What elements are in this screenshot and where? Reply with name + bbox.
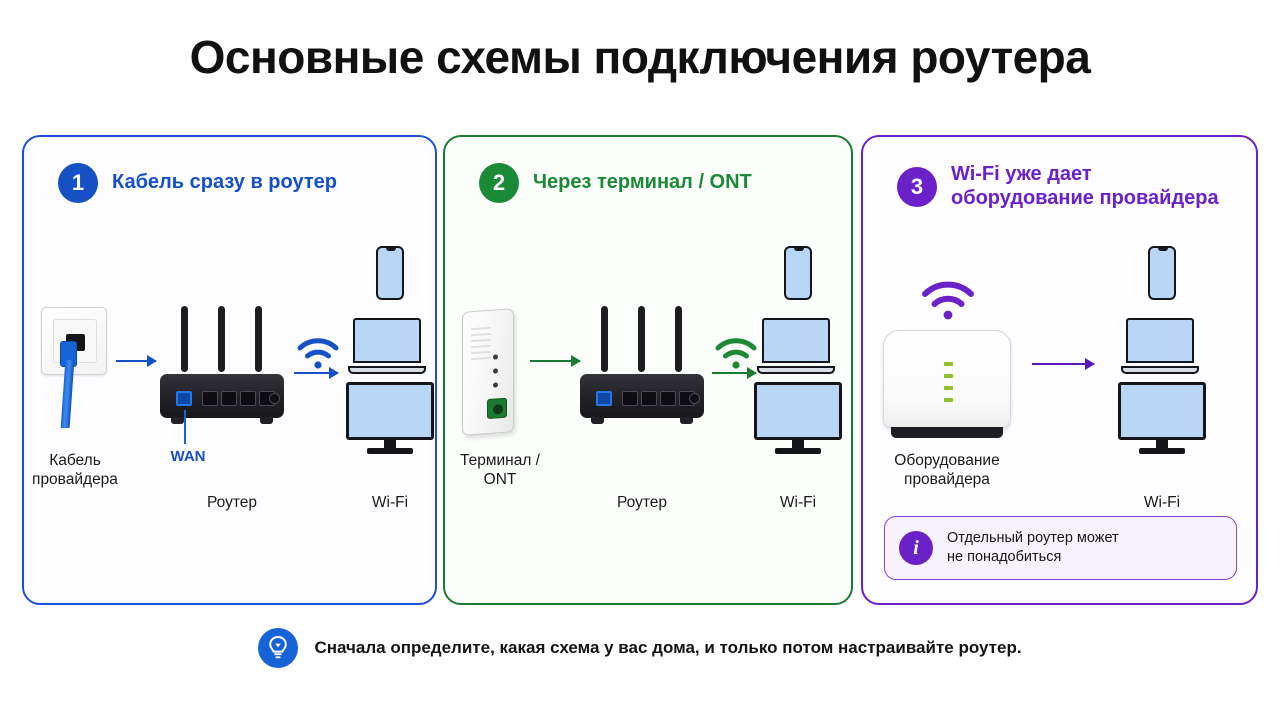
wan-leader-line xyxy=(184,410,186,444)
ont-vent-6 xyxy=(471,357,491,360)
tv-icon xyxy=(346,382,434,454)
panel-1-header: 1 Кабель сразу в роутер xyxy=(58,163,337,203)
diagram-canvas: Основные схемы подключения роутера 1 Каб… xyxy=(0,0,1280,720)
caption-wifi-3: Wi-Fi xyxy=(1112,494,1212,513)
ont-terminal-icon xyxy=(462,308,514,436)
router-antenna-right xyxy=(255,306,262,372)
provider-base xyxy=(891,427,1003,438)
ont-led-3 xyxy=(493,382,498,387)
info-note-text: Отдельный роутер может не понадобиться xyxy=(947,529,1119,567)
laptop-screen xyxy=(353,318,421,363)
panel-3-title-line-1: Wi-Fi уже дает xyxy=(951,163,1219,187)
ont-vent-4 xyxy=(471,345,491,348)
footer-text: Сначала определите, какая схема у вас до… xyxy=(314,638,1021,658)
router-foot-right xyxy=(260,417,273,424)
caption-provider-cable: Кабель провайдера xyxy=(20,452,130,490)
router-lan-port-3 xyxy=(240,391,256,406)
phone-icon xyxy=(376,246,404,300)
lightbulb-icon xyxy=(258,628,298,668)
router-power-button xyxy=(269,393,280,404)
arrow-router-to-devices-1 xyxy=(294,372,338,374)
arrow-head xyxy=(329,367,339,379)
phone-icon-2 xyxy=(784,246,812,300)
panel-2-title-line-1: Через терминал / ONT xyxy=(533,171,752,195)
laptop-screen xyxy=(1126,318,1194,363)
info-icon: i xyxy=(899,531,933,565)
arrow-head xyxy=(1085,358,1095,370)
router-power-button xyxy=(689,393,700,404)
panel-1-title: Кабель сразу в роутер xyxy=(112,171,337,195)
ont-vent-1 xyxy=(471,327,491,330)
provider-led-4 xyxy=(944,398,953,402)
laptop-icon xyxy=(348,318,426,374)
caption-provider-equipment: Оборудование провайдера xyxy=(880,452,1014,490)
panel-3-title: Wi-Fi уже дает оборудование провайдера xyxy=(951,163,1219,210)
router-icon-2 xyxy=(580,306,704,424)
tv-neck xyxy=(792,440,804,448)
provider-led-1 xyxy=(944,362,953,366)
panel-1-title-line-1: Кабель сразу в роутер xyxy=(112,171,337,195)
panel-3-header: 3 Wi-Fi уже дает оборудование провайдера xyxy=(897,163,1219,210)
caption-wifi-1: Wi-Fi xyxy=(340,494,440,513)
router-antenna-right xyxy=(675,306,682,372)
tv-stand xyxy=(367,448,413,454)
ont-led-1 xyxy=(493,354,498,359)
ont-fiber-port xyxy=(487,398,507,419)
ont-led-2 xyxy=(493,368,498,373)
page-title: Основные схемы подключения роутера xyxy=(0,30,1280,84)
provider-led-2 xyxy=(944,374,953,378)
arrow-head xyxy=(147,355,157,367)
arrow-head xyxy=(747,367,757,379)
laptop-screen xyxy=(762,318,830,363)
phone-icon-3 xyxy=(1148,246,1176,300)
router-antenna-left xyxy=(181,306,188,372)
footer-tip: Сначала определите, какая схема у вас до… xyxy=(0,628,1280,668)
tv-stand xyxy=(775,448,821,454)
laptop-base xyxy=(1121,366,1199,374)
router-antenna-center xyxy=(638,306,645,372)
provider-equipment-icon xyxy=(883,330,1011,438)
router-antenna-left xyxy=(601,306,608,372)
router-foot-left xyxy=(591,417,604,424)
arrow-socket-to-router xyxy=(116,360,156,362)
router-lan-port-1 xyxy=(202,391,218,406)
panel-3-title-line-2: оборудование провайдера xyxy=(951,187,1219,211)
router-lan-port-3 xyxy=(660,391,676,406)
router-wan-port xyxy=(176,391,192,406)
panel-3-number-badge: 3 xyxy=(897,167,937,207)
arrow-router-to-devices-2 xyxy=(712,372,756,374)
tv-stand xyxy=(1139,448,1185,454)
info-note-line-1: Отдельный роутер может xyxy=(947,529,1119,548)
caption-ont-terminal: Терминал / ONT xyxy=(434,452,566,490)
router-icon xyxy=(160,306,284,424)
tv-icon-3 xyxy=(1118,382,1206,454)
panel-1-number-badge: 1 xyxy=(58,163,98,203)
lightbulb-glyph xyxy=(267,635,289,661)
panel-2-number-badge: 2 xyxy=(479,163,519,203)
laptop-base xyxy=(757,366,835,374)
tv-neck xyxy=(1156,440,1168,448)
router-antenna-center xyxy=(218,306,225,372)
provider-shell xyxy=(883,330,1011,428)
caption-wan: WAN xyxy=(148,448,228,466)
arrow-provider-to-devices xyxy=(1032,363,1094,365)
caption-wifi-2: Wi-Fi xyxy=(748,494,848,513)
tv-icon-2 xyxy=(754,382,842,454)
info-note-line-2: не понадобиться xyxy=(947,548,1119,567)
router-lan-port-1 xyxy=(622,391,638,406)
info-note: i Отдельный роутер может не понадобиться xyxy=(884,516,1237,580)
ont-vent-2 xyxy=(471,333,491,336)
ont-vent-5 xyxy=(471,351,491,354)
provider-led-3 xyxy=(944,386,953,390)
tv-screen xyxy=(1118,382,1206,440)
router-lan-port-2 xyxy=(221,391,237,406)
router-foot-left xyxy=(171,417,184,424)
panel-2-header: 2 Через терминал / ONT xyxy=(479,163,752,203)
router-wan-port xyxy=(596,391,612,406)
laptop-base xyxy=(348,366,426,374)
tv-neck xyxy=(384,440,396,448)
router-foot-right xyxy=(680,417,693,424)
router-lan-port-2 xyxy=(641,391,657,406)
tv-screen xyxy=(754,382,842,440)
panel-2-title: Через терминал / ONT xyxy=(533,171,752,195)
laptop-icon-2 xyxy=(757,318,835,374)
wifi-signal-icon-3 xyxy=(920,276,976,324)
arrow-ont-to-router xyxy=(530,360,580,362)
laptop-icon-3 xyxy=(1121,318,1199,374)
caption-router-1: Роутер xyxy=(172,494,292,513)
caption-router-2: Роутер xyxy=(582,494,702,513)
ont-vent-3 xyxy=(471,339,491,342)
tv-screen xyxy=(346,382,434,440)
